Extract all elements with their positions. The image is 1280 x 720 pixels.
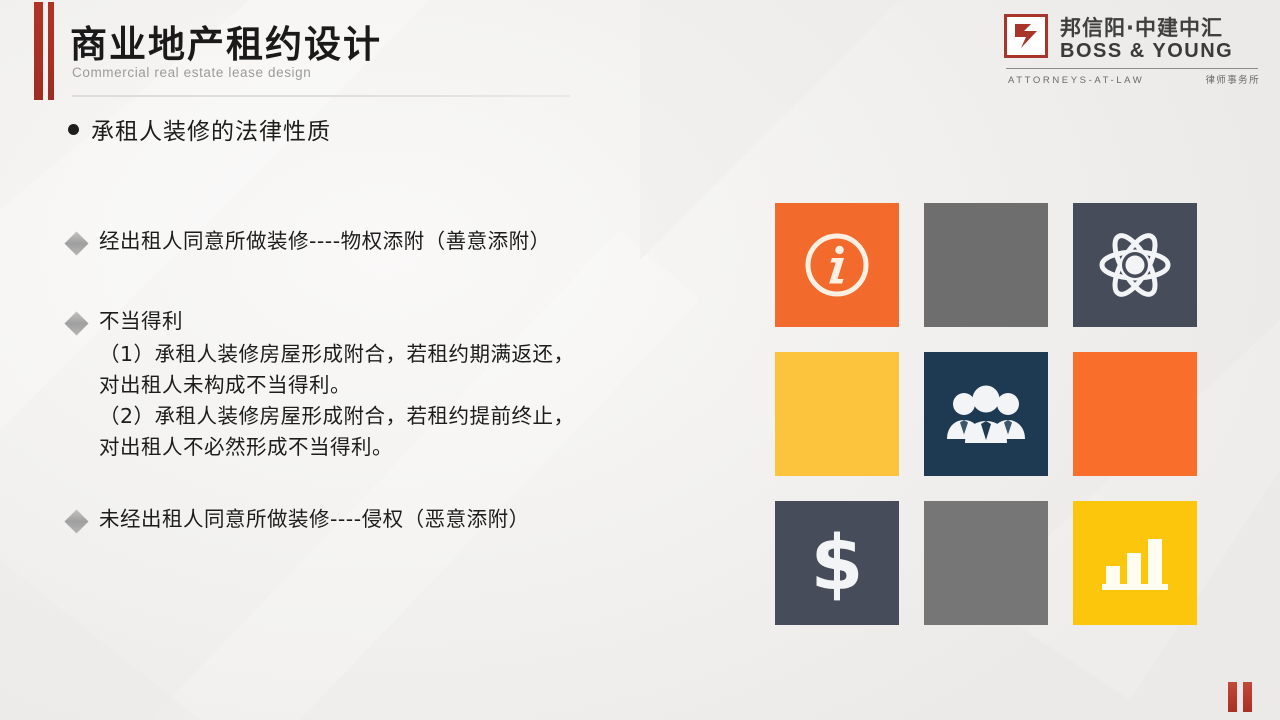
tile-atom[interactable] [1073,203,1197,327]
tile-blank-yellow[interactable] [775,352,899,476]
slide-canvas: 商业地产租约设计 Commercial real estate lease de… [0,0,1280,720]
tile-bar-chart[interactable] [1073,501,1197,625]
tile-people[interactable] [924,352,1048,476]
logo-monogram-icon [1004,14,1048,58]
bullet-label: 经出租人同意所做装修----物权添附（善意添附） [99,228,551,256]
title-divider [72,95,570,97]
sub-line: 对出租人未构成不当得利。 [99,370,728,401]
tile-blank-gray-2[interactable] [924,501,1048,625]
svg-text:$: $ [811,523,864,603]
bullet-label: 未经出租人同意所做装修----侵权（恶意添附） [99,506,530,534]
title-accent-bar-thin [48,2,54,100]
page-title: 商业地产租约设计 [70,14,382,68]
bullet-label: 不当得利 [99,308,183,336]
content-list: 经出租人同意所做装修----物权添附（善意添附） 不当得利 （1）承租人装修房屋… [68,228,728,534]
title-accent-bars [34,2,60,100]
info-icon [801,229,873,301]
sub-line-group: （1）承租人装修房屋形成附合，若租约期满返还， 对出租人未构成不当得利。 （2）… [99,339,728,462]
logo-divider [1006,68,1258,69]
corner-accent-bar-1 [1228,682,1237,712]
bar-chart-icon [1102,534,1168,592]
tile-dollar[interactable]: $ [775,501,899,625]
sub-line: 对出租人不必然形成不当得利。 [99,432,728,463]
corner-accent-bars [1228,682,1262,712]
logo-name-en: BOSS & YOUNG [1060,40,1233,63]
bullet-dot-icon [68,124,79,135]
diamond-bullet-icon [64,311,88,335]
logo-tagline: ATTORNEYS-AT-LAW 律师事务所 [1008,72,1260,86]
bullet-row: 经出租人同意所做装修----物权添附（善意添附） [68,228,728,256]
people-icon [944,383,1028,445]
firm-logo: 邦信阳·中建中汇 BOSS & YOUNG ATTORNEYS-AT-LAW 律… [1004,10,1262,92]
bullet-row: 未经出租人同意所做装修----侵权（恶意添附） [68,506,728,534]
bullet-row: 不当得利 [68,308,728,336]
list-item: 经出租人同意所做装修----物权添附（善意添附） [68,228,728,256]
list-item: 不当得利 （1）承租人装修房屋形成附合，若租约期满返还， 对出租人未构成不当得利… [68,308,728,463]
sub-line: （2）承租人装修房屋形成附合，若租约提前终止， [99,401,728,432]
logo-tagline-en: ATTORNEYS-AT-LAW [1008,75,1144,86]
icon-tile-grid: $ [775,203,1197,625]
atom-icon [1098,228,1172,302]
diamond-bullet-icon [64,231,88,255]
tile-info[interactable] [775,203,899,327]
section-headline: 承租人装修的法律性质 [68,112,331,146]
logo-name-cn: 邦信阳·中建中汇 [1060,12,1223,42]
logo-tagline-cn: 律师事务所 [1205,72,1260,86]
title-accent-bar-thick [34,2,43,100]
sub-line: （1）承租人装修房屋形成附合，若租约期满返还， [99,339,728,370]
list-item: 未经出租人同意所做装修----侵权（恶意添附） [68,506,728,534]
dollar-icon: $ [806,523,868,603]
page-subtitle: Commercial real estate lease design [72,65,311,80]
corner-accent-bar-2 [1243,682,1252,712]
section-headline-label: 承租人装修的法律性质 [91,112,331,146]
diamond-bullet-icon [64,510,88,534]
tile-blank-orange[interactable] [1073,352,1197,476]
tile-blank-gray[interactable] [924,203,1048,327]
